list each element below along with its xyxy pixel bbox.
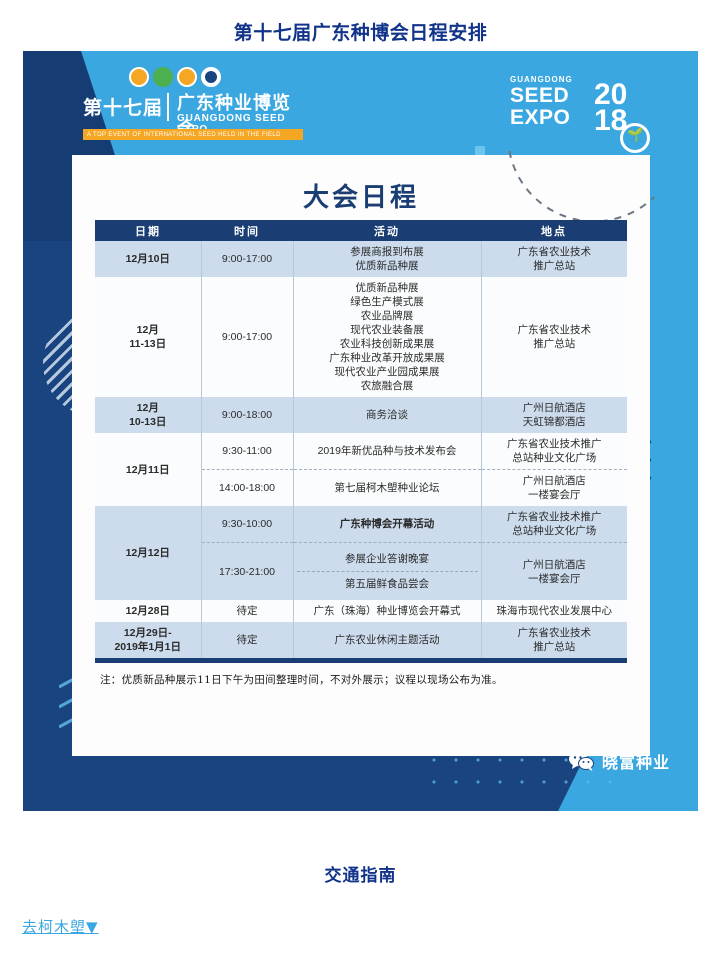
logo-expo-text: EXPO [510,107,570,129]
page-title: 第十七届广东种博会日程安排 [0,18,721,45]
cell-activity: 优质新品种展绿色生产模式展农业品牌展现代农业装备展农业科技创新成果展广东种业改革… [293,277,481,397]
cell-time: 9:00-17:00 [201,277,293,397]
cell-date: 12月11日 [95,433,201,506]
cell-activity: 第七届柯木塱种业论坛 [293,470,481,507]
schedule-table: 日期 时间 活动 地点 12月10日9:00-17:00参展商报到布展优质新品种… [95,220,627,658]
seed-circles-icon [129,67,221,87]
column-header-venue: 地点 [481,220,627,241]
cell-venue: 广州日航酒店天虹锦都酒店 [481,397,627,433]
cell-time: 待定 [201,622,293,658]
cell-date: 12月10日 [95,241,201,277]
cell-time: 9:00-17:00 [201,241,293,277]
seed-expo-logo: 第十七届 广东种业博览会 GUANGDONG SEED EXPO A TOP E… [83,67,303,149]
table-bottom-rule [95,658,627,663]
cell-venue: 广州日航酒店一楼宴会厅 [481,543,627,601]
table-row: 12月28日待定广东（珠海）种业博览会开幕式珠海市现代农业发展中心 [95,600,627,622]
ring-dot-icon [201,67,221,87]
logo-tagline: A TOP EVENT OF INTERNATIONAL SEED HELD I… [83,132,281,138]
table-row: 12月10-13日9:00-18:00商务洽谈广州日航酒店天虹锦都酒店 [95,397,627,433]
cell-date: 12月11-13日 [95,277,201,397]
table-row: 12月11日9:30-11:002019年新优品种与技术发布会广东省农业技术推广… [95,433,627,470]
seed-expo-2018-logo: GUANGDONG SEED EXPO 20 18 [506,73,656,151]
cell-date: 12月29日-2019年1月1日 [95,622,201,658]
table-header-row: 日期 时间 活动 地点 [95,220,627,241]
cell-activity: 广东（珠海）种业博览会开幕式 [293,600,481,622]
cell-activity: 商务洽谈 [293,397,481,433]
logo-seed-text: SEED [510,85,569,107]
column-header-date: 日期 [95,220,201,241]
logo-divider [167,93,169,121]
cell-venue: 广东省农业技术推广总站 [481,277,627,397]
table-row: 12月10日9:00-17:00参展商报到布展优质新品种展广东省农业技术推广总站 [95,241,627,277]
cell-time: 14:00-18:00 [201,470,293,507]
cell-time: 待定 [201,600,293,622]
logo-region: GUANGDONG [510,75,573,84]
cell-time: 9:30-10:00 [201,506,293,543]
cell-venue: 珠海市现代农业发展中心 [481,600,627,622]
card-title: 大会日程 [72,177,650,214]
cell-date: 12月12日 [95,506,201,600]
section-title-transport: 交通指南 [0,861,721,886]
cell-activity: 广东种博会开幕活动 [293,506,481,543]
seed-dot-icon [177,67,197,87]
table-row: 12月29日-2019年1月1日待定广东农业休闲主题活动广东省农业技术推广总站 [95,622,627,658]
cell-date: 12月28日 [95,600,201,622]
schedule-card: 大会日程 日期 时间 活动 地点 12月10日9:00-17:00参展商报到布展… [72,155,650,756]
cell-activity: 广东农业休闲主题活动 [293,622,481,658]
cell-venue: 广东省农业技术推广总站 [481,241,627,277]
seed-dot-icon [129,67,149,87]
cell-time: 17:30-21:00 [201,543,293,601]
sprout-dot-icon [153,67,173,87]
cell-venue: 广州日航酒店一楼宴会厅 [481,470,627,507]
transport-link[interactable]: 去柯木塱▼ [22,916,99,937]
cell-date: 12月10-13日 [95,397,201,433]
table-row: 12月12日9:30-10:00广东种博会开幕活动广东省农业技术推广总站种业文化… [95,506,627,543]
wechat-account: 晓富种业 [568,749,670,773]
column-header-time: 时间 [201,220,293,241]
schedule-table-body: 12月10日9:00-17:00参展商报到布展优质新品种展广东省农业技术推广总站… [95,241,627,658]
cell-venue: 广东省农业技术推广总站种业文化广场 [481,506,627,543]
cell-activity: 参展企业答谢晚宴第五届鲜食品尝会 [293,543,481,601]
logo-tagline-strip: A TOP EVENT OF INTERNATIONAL SEED HELD I… [83,129,303,140]
cell-time: 9:00-18:00 [201,397,293,433]
cell-venue: 广东省农业技术推广总站 [481,622,627,658]
column-header-activity: 活动 [293,220,481,241]
poster-image: 第十七届 广东种业博览会 GUANGDONG SEED EXPO A TOP E… [23,51,698,811]
cell-venue: 广东省农业技术推广总站种业文化广场 [481,433,627,470]
schedule-note: 注：优质新品种展示11日下午为田间整理时间，不对外展示；议程以现场公布为准。 [100,672,620,687]
wechat-icon [568,751,594,771]
cell-activity: 参展商报到布展优质新品种展 [293,241,481,277]
logo-edition: 第十七届 [83,93,163,120]
wechat-account-name: 晓富种业 [602,749,670,773]
cell-activity: 2019年新优品种与技术发布会 [293,433,481,470]
table-row: 12月11-13日9:00-17:00优质新品种展绿色生产模式展农业品牌展现代农… [95,277,627,397]
cell-time: 9:30-11:00 [201,433,293,470]
